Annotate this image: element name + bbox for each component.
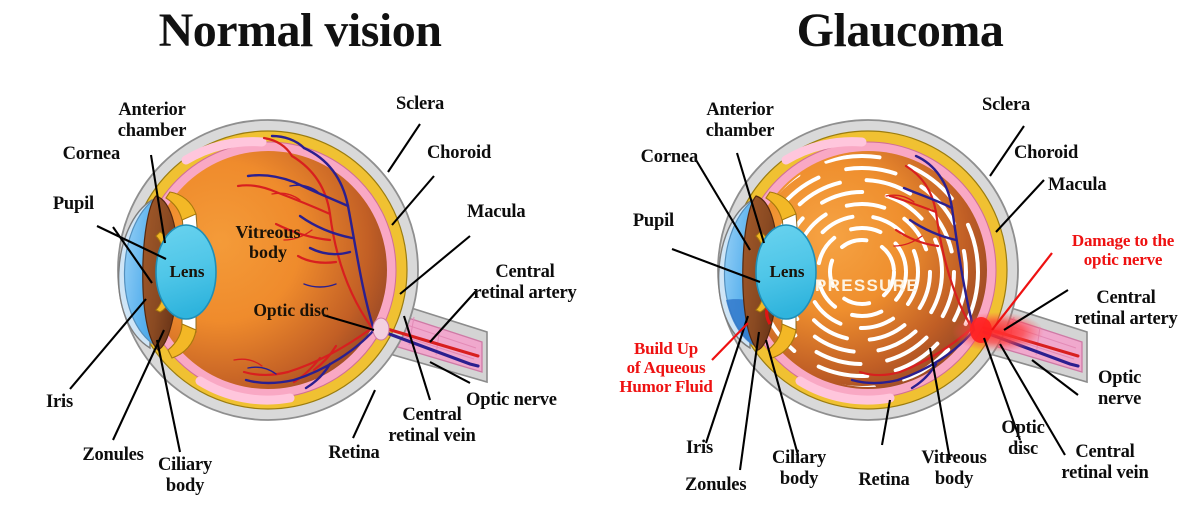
internal-label-pressure: PRESSURE (808, 276, 926, 296)
label-central-retinal-vein: Central retinal vein (369, 405, 495, 447)
label-pupil: Pupil (600, 211, 674, 232)
label-central-retinal-artery: Central retinal artery (1053, 288, 1199, 330)
panel-normal-vision: Normal vision (0, 0, 600, 512)
optic-nerve-damage-glow (952, 312, 1044, 352)
label-ciliary-body: Ciliary body (140, 455, 230, 497)
label-optic-nerve: Optic nerve (466, 390, 596, 411)
annotation-build-up-aqueous-humor: Build Up of Aqueous Humor Fluid (605, 339, 727, 396)
optic-disc-damage-core (970, 317, 992, 343)
label-iris: Iris (686, 438, 746, 459)
label-central-retinal-vein: Central retinal vein (1040, 442, 1170, 484)
label-anterior-chamber: Anterior chamber (670, 100, 810, 142)
internal-label-lens: Lens (156, 262, 218, 282)
optic-disc-marker (373, 318, 389, 340)
panel-glaucoma: Glaucoma (600, 0, 1200, 512)
label-macula: Macula (1048, 175, 1158, 196)
label-ciliary-body: Ciliary body (757, 448, 841, 490)
label-iris: Iris (46, 392, 116, 413)
label-sclera: Sclera (396, 94, 506, 115)
label-cornea: Cornea (602, 147, 698, 168)
label-choroid: Choroid (427, 143, 547, 164)
label-central-retinal-artery: Central retinal artery (455, 262, 595, 304)
internal-label-optic-disc: Optic disc (236, 300, 346, 320)
eye-comparison-figure: Normal vision (0, 0, 1200, 512)
label-pupil: Pupil (4, 194, 94, 215)
label-cornea: Cornea (10, 144, 120, 165)
label-anterior-chamber: Anterior chamber (82, 100, 222, 142)
label-optic-nerve: Optic nerve (1098, 368, 1188, 410)
label-sclera: Sclera (982, 95, 1092, 116)
internal-label-vitreous-body: Vitreous body (198, 222, 338, 262)
label-choroid: Choroid (1014, 143, 1134, 164)
label-macula: Macula (467, 202, 577, 223)
annotation-damage-to-optic-nerve: Damage to the optic nerve (1050, 231, 1196, 269)
